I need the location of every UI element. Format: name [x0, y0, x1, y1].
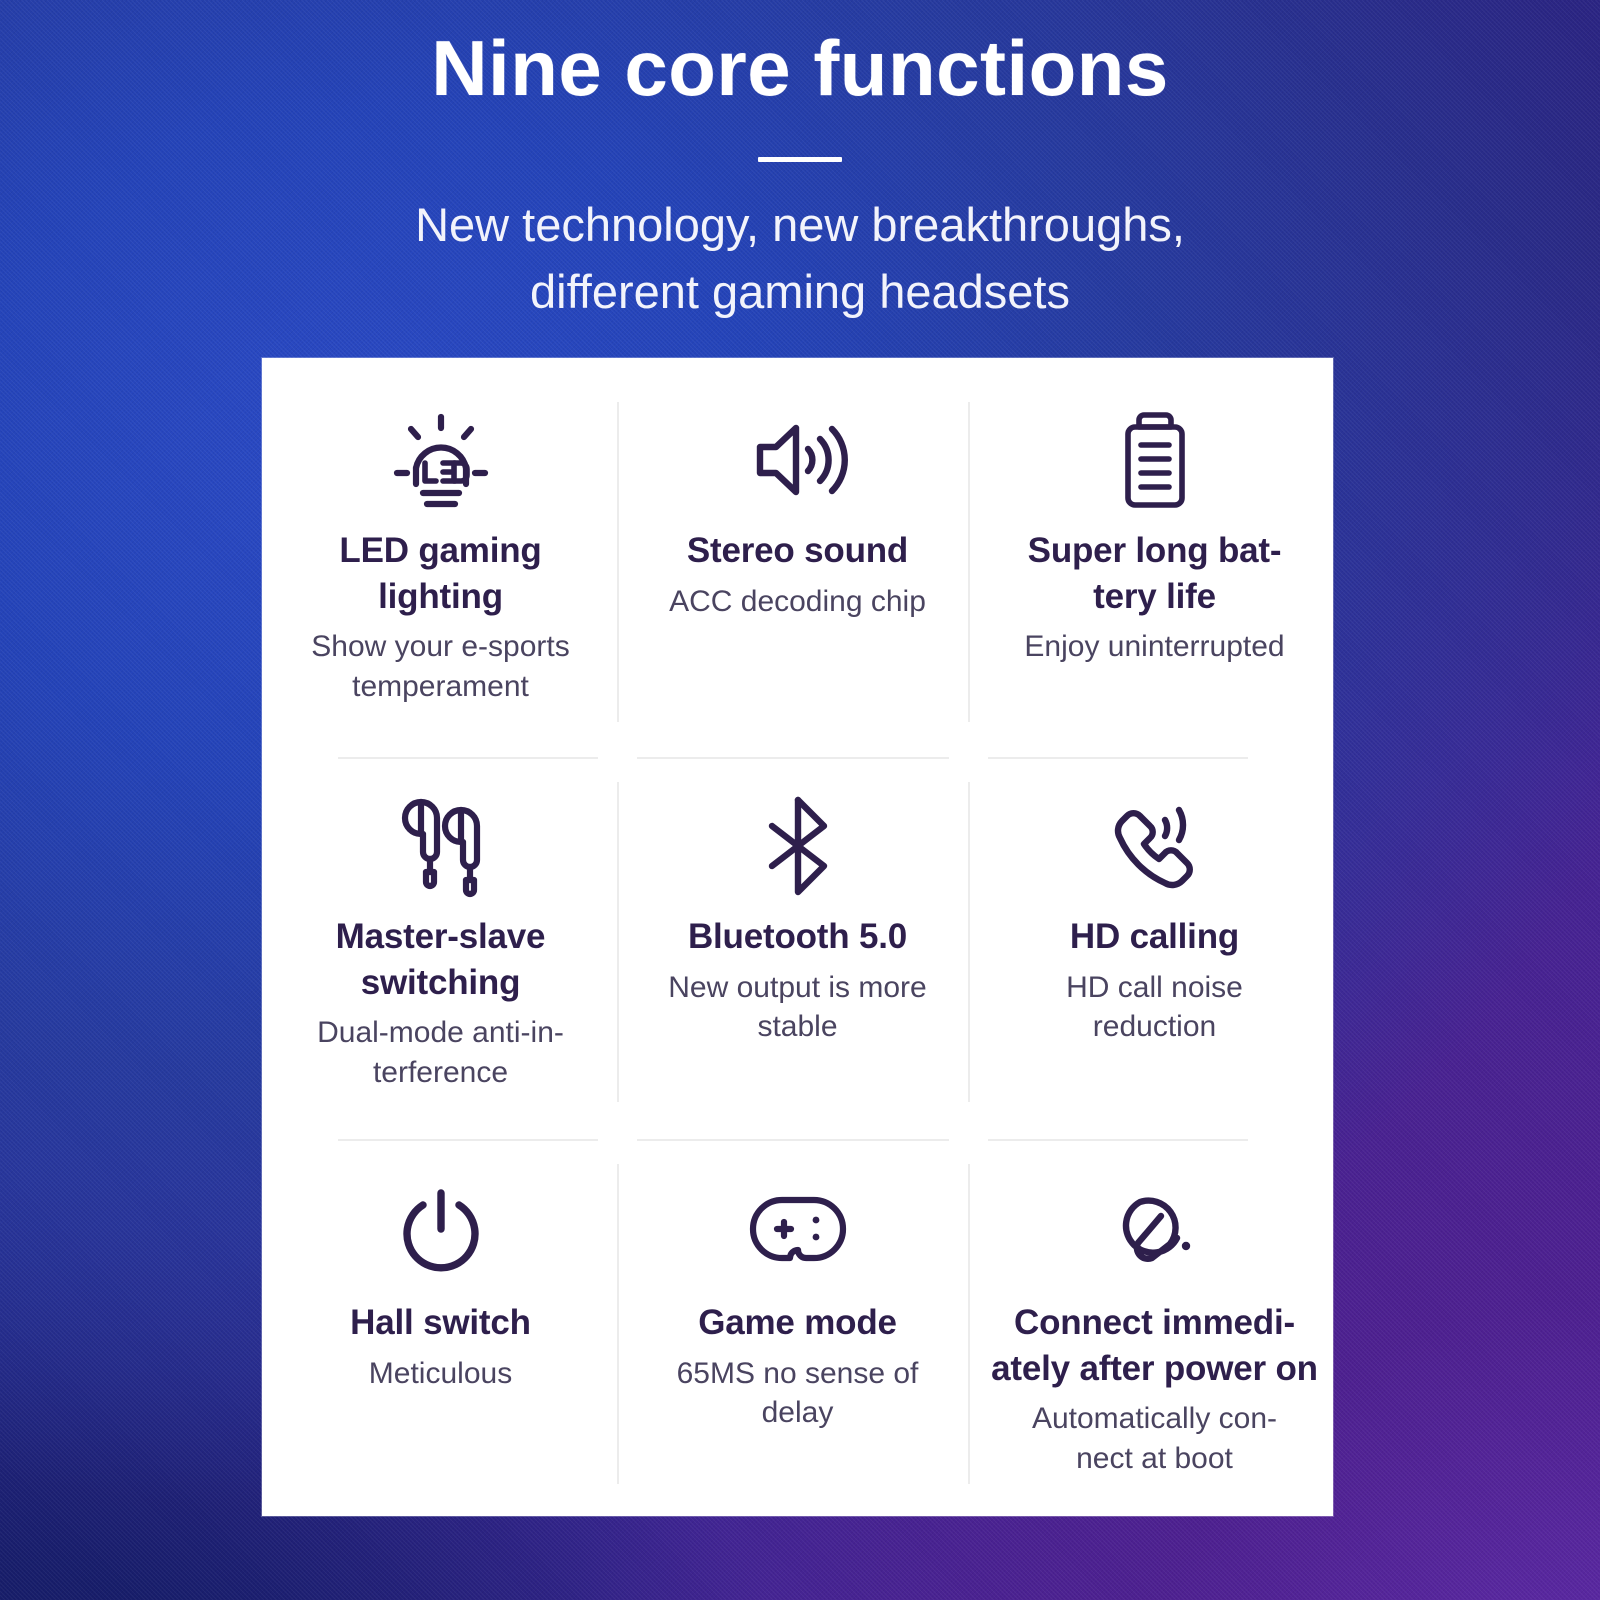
feature-description: Dual-mode anti-in- terference	[317, 1013, 564, 1093]
feature-desc-line-2: stable	[757, 1010, 837, 1043]
features-grid: LED gaming lighting Show your e-sports t…	[262, 358, 1333, 1516]
feature-title: Bluetooth 5.0	[688, 914, 907, 960]
bluetooth-icon	[756, 792, 840, 900]
feature-description: Automatically con- nect at boot	[1032, 1399, 1277, 1479]
feature-title-line-2: lighting	[378, 577, 503, 616]
feature-title-line-1: Connect immedi-	[1014, 1303, 1295, 1342]
gamepad-icon	[744, 1178, 852, 1286]
page-header: Nine core functions New technology, new …	[0, 26, 1600, 326]
phone-call-icon	[1103, 792, 1207, 900]
feature-cell-master-slave-switching[interactable]: Master-slave switching Dual-mode anti-in…	[262, 744, 619, 1130]
feature-title: Hall switch	[350, 1300, 531, 1346]
feature-desc-line-1: Automatically con-	[1032, 1402, 1277, 1435]
feature-desc-line-1: Show your e-sports	[311, 630, 569, 663]
feature-description: ACC decoding chip	[669, 582, 926, 622]
feature-desc-line-2: nect at boot	[1076, 1442, 1233, 1475]
feature-title-line-2: switching	[361, 963, 521, 1002]
feature-cell-stereo-sound[interactable]: Stereo sound ACC decoding chip	[619, 358, 976, 744]
feature-desc-line-2: reduction	[1093, 1010, 1216, 1043]
feature-title-line-2: ately after power on	[991, 1349, 1318, 1388]
page-title: Nine core functions	[0, 26, 1600, 110]
feature-desc-line-2: temperament	[352, 670, 529, 703]
title-divider-rule	[758, 157, 842, 162]
feature-cell-game-mode[interactable]: Game mode 65MS no sense of delay	[619, 1130, 976, 1516]
led-bulb-icon	[387, 406, 495, 514]
feature-desc-line-1: 65MS no sense of	[677, 1357, 919, 1390]
feature-description: Meticulous	[369, 1354, 512, 1394]
feature-title: Master-slave switching	[336, 914, 546, 1005]
feature-description: 65MS no sense of delay	[677, 1354, 919, 1434]
earbuds-icon	[393, 792, 489, 900]
feature-desc-line-1: New output is more	[668, 971, 926, 1004]
feature-title: Connect immedi- ately after power on	[991, 1300, 1318, 1391]
page-subtitle-line-2: different gaming headsets	[0, 259, 1600, 326]
feature-title-line-2: tery life	[1093, 577, 1216, 616]
feature-title: Super long bat- tery life	[1028, 528, 1282, 619]
feature-title-line-1: Super long bat-	[1028, 531, 1282, 570]
feature-cell-bluetooth[interactable]: Bluetooth 5.0 New output is more stable	[619, 744, 976, 1130]
feature-description: Show your e-sports temperament	[311, 627, 569, 707]
feature-title: Game mode	[698, 1300, 897, 1346]
feature-desc-line-1: Dual-mode anti-in-	[317, 1016, 564, 1049]
feature-cell-super-long-battery-life[interactable]: Super long bat- tery life Enjoy uninterr…	[976, 358, 1333, 744]
feature-desc-line-2: delay	[762, 1396, 834, 1429]
power-button-icon	[395, 1178, 487, 1286]
feature-title-line-1: Master-slave	[336, 917, 546, 956]
battery-icon	[1113, 406, 1197, 514]
link-paperclip-icon	[1107, 1178, 1203, 1286]
feature-title: LED gaming lighting	[339, 528, 541, 619]
feature-desc-line-1: HD call noise	[1066, 971, 1243, 1004]
feature-cell-hd-calling[interactable]: HD calling HD call noise reduction	[976, 744, 1333, 1130]
feature-cell-led-gaming-lighting[interactable]: LED gaming lighting Show your e-sports t…	[262, 358, 619, 744]
feature-desc-line-2: terference	[373, 1056, 508, 1089]
feature-title: Stereo sound	[687, 528, 908, 574]
features-card: LED gaming lighting Show your e-sports t…	[262, 358, 1333, 1516]
feature-description: Enjoy uninterrupted	[1024, 627, 1284, 667]
page-subtitle: New technology, new breakthroughs, diffe…	[0, 192, 1600, 325]
feature-title: HD calling	[1070, 914, 1239, 960]
feature-description: New output is more stable	[668, 968, 926, 1048]
infographic-page: Nine core functions New technology, new …	[0, 0, 1600, 1600]
speaker-sound-icon	[746, 406, 850, 514]
page-subtitle-line-1: New technology, new breakthroughs,	[0, 192, 1600, 259]
feature-title-line-1: LED gaming	[339, 531, 541, 570]
feature-cell-connect-immediately[interactable]: Connect immedi- ately after power on Aut…	[976, 1130, 1333, 1516]
feature-description: HD call noise reduction	[1066, 968, 1243, 1048]
feature-cell-hall-switch[interactable]: Hall switch Meticulous	[262, 1130, 619, 1516]
